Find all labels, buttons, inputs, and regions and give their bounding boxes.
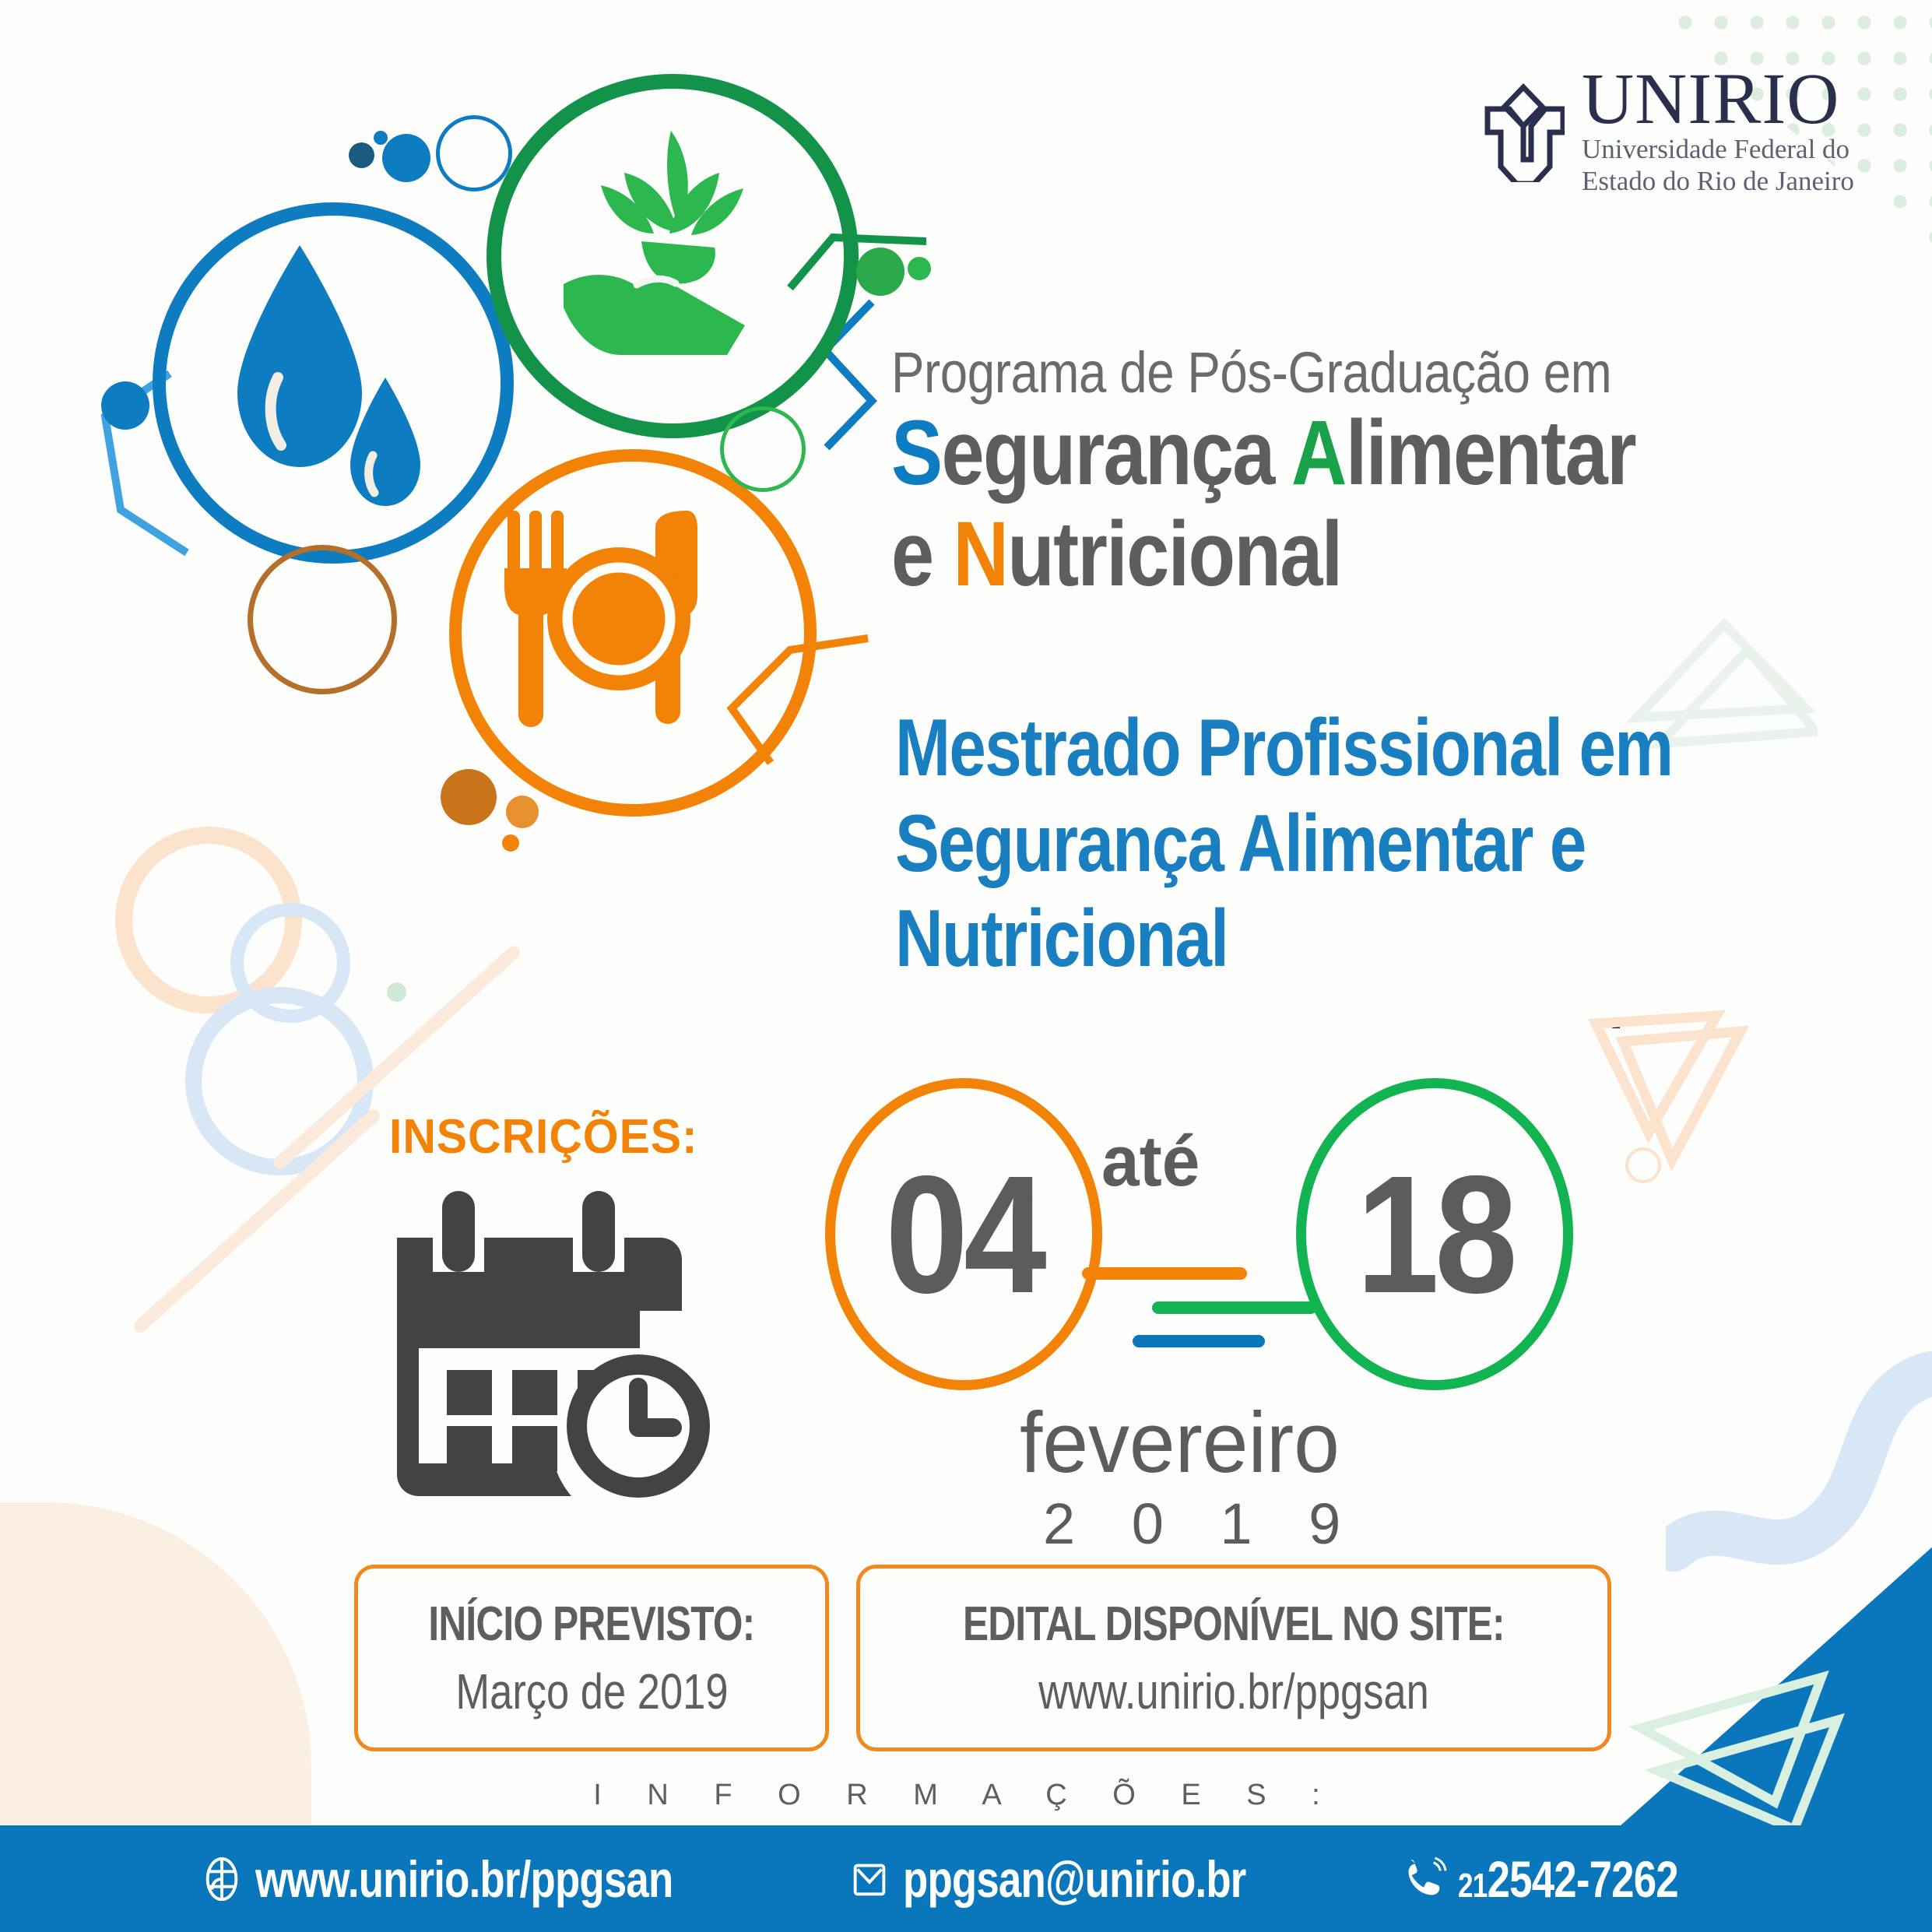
- program-title-line-1: Segurança Alimentar: [891, 403, 1663, 504]
- pale-triangles-right: [1588, 1004, 1775, 1175]
- subtitle-line-2: Segurança Alimentar e: [895, 796, 1649, 892]
- footer-website-item[interactable]: www.unirio.br/ppgsan: [199, 1849, 778, 1909]
- title-text-e: e: [891, 503, 953, 606]
- start-date-circle: 04: [825, 1078, 1102, 1390]
- hand-holding-plant-icon: [554, 125, 780, 358]
- accent-dot: [506, 796, 539, 828]
- envelope-icon: [847, 1856, 892, 1902]
- footer-contact-bar: www.unirio.br/ppgsan ppgsan@unirio.br 21…: [0, 1825, 1932, 1932]
- footer-phone-number: 2542-7262: [1487, 1850, 1677, 1908]
- pale-ring-decoration: [1625, 1147, 1661, 1183]
- program-title-line-2: e Nutricional: [891, 504, 1663, 606]
- title-text-seguranca: egurança: [941, 402, 1291, 504]
- month-label: fevereiro: [1020, 1393, 1340, 1492]
- wave-decoration: [1666, 1347, 1932, 1580]
- title-text-nutricional: utricional: [1007, 503, 1341, 606]
- accent-ring: [720, 406, 806, 492]
- phone-icon: [1402, 1856, 1447, 1902]
- title-initial-a: A: [1291, 402, 1346, 504]
- connector-bar-green: [1152, 1301, 1317, 1314]
- title-text-alimentar: limentar: [1346, 402, 1635, 504]
- edital-heading: EDITAL DISPONÍVEL NO SITE:: [963, 1597, 1505, 1652]
- enrollment-label: INSCRIÇÕES:: [389, 1109, 698, 1164]
- accent-dot: [441, 769, 497, 825]
- globe-icon: [199, 1856, 244, 1902]
- accent-ring: [436, 115, 512, 191]
- footer-website-text[interactable]: www.unirio.br/ppgsan: [255, 1849, 673, 1909]
- plate-fork-knife-icon: [498, 506, 739, 732]
- accent-dot: [856, 248, 905, 296]
- footer-email-text[interactable]: ppgsan@unirio.br: [903, 1849, 1246, 1909]
- pale-dot-decoration: [387, 982, 406, 1002]
- accent-dot: [349, 142, 374, 168]
- unirio-logo: UNIRIO Universidade Federal do Estado do…: [1483, 66, 1854, 197]
- header-title-block: Programa de Pós-Graduação em Segurança A…: [891, 342, 1810, 606]
- footer-phone-area: 21: [1458, 1867, 1488, 1905]
- subtitle-line-3: Nutricional: [895, 891, 1649, 987]
- title-initial-n: N: [953, 503, 1007, 606]
- program-eyebrow: Programa de Pós-Graduação em: [891, 342, 1681, 403]
- start-forecast-heading: INÍCIO PREVISTO:: [429, 1597, 755, 1652]
- accent-dot: [502, 834, 519, 852]
- edital-url[interactable]: www.unirio.br/ppgsan: [1038, 1663, 1429, 1720]
- connector-bar-orange: [1082, 1267, 1247, 1280]
- accent-dot: [908, 257, 931, 280]
- accent-dot: [374, 131, 388, 145]
- subtitle-line-1: Mestrado Profissional em: [895, 701, 1649, 796]
- accent-ring: [248, 545, 397, 694]
- edital-box[interactable]: EDITAL DISPONÍVEL NO SITE: www.unirio.br…: [856, 1565, 1611, 1751]
- start-forecast-box: INÍCIO PREVISTO: Março de 2019: [354, 1565, 829, 1751]
- footer-phone-text[interactable]: 212542-7262: [1458, 1849, 1678, 1909]
- title-initial-s: S: [891, 402, 941, 504]
- unirio-subline-1: Universidade Federal do: [1582, 133, 1854, 165]
- calendar-clock-icon: [381, 1183, 724, 1502]
- date-connector-label: até: [1101, 1121, 1200, 1203]
- informacoes-label: I N F O R M A Ç Õ E S :: [0, 1779, 1932, 1812]
- course-subtitle-block: Mestrado Profissional em Segurança Alime…: [895, 701, 1814, 987]
- end-date-circle: 18: [1296, 1078, 1573, 1390]
- year-label: 2 0 1 9: [1043, 1491, 1361, 1557]
- footer-email-item[interactable]: ppgsan@unirio.br: [847, 1849, 1332, 1909]
- accent-dot: [382, 134, 430, 182]
- connector-bar-blue: [1133, 1335, 1265, 1347]
- footer-phone-item[interactable]: 212542-7262: [1402, 1849, 1734, 1909]
- unirio-wordmark: UNIRIO: [1582, 66, 1854, 133]
- poster-canvas: UNIRIO Universidade Federal do Estado do…: [0, 0, 1932, 1932]
- unirio-emblem-icon: [1483, 81, 1565, 182]
- unirio-subline-2: Estado do Rio de Janeiro: [1582, 165, 1854, 197]
- accent-dot: [101, 381, 149, 430]
- start-forecast-value: Março de 2019: [455, 1663, 728, 1720]
- water-drop-icon: [206, 234, 440, 514]
- start-day-number: 04: [885, 1138, 1042, 1331]
- end-day-number: 18: [1356, 1138, 1513, 1331]
